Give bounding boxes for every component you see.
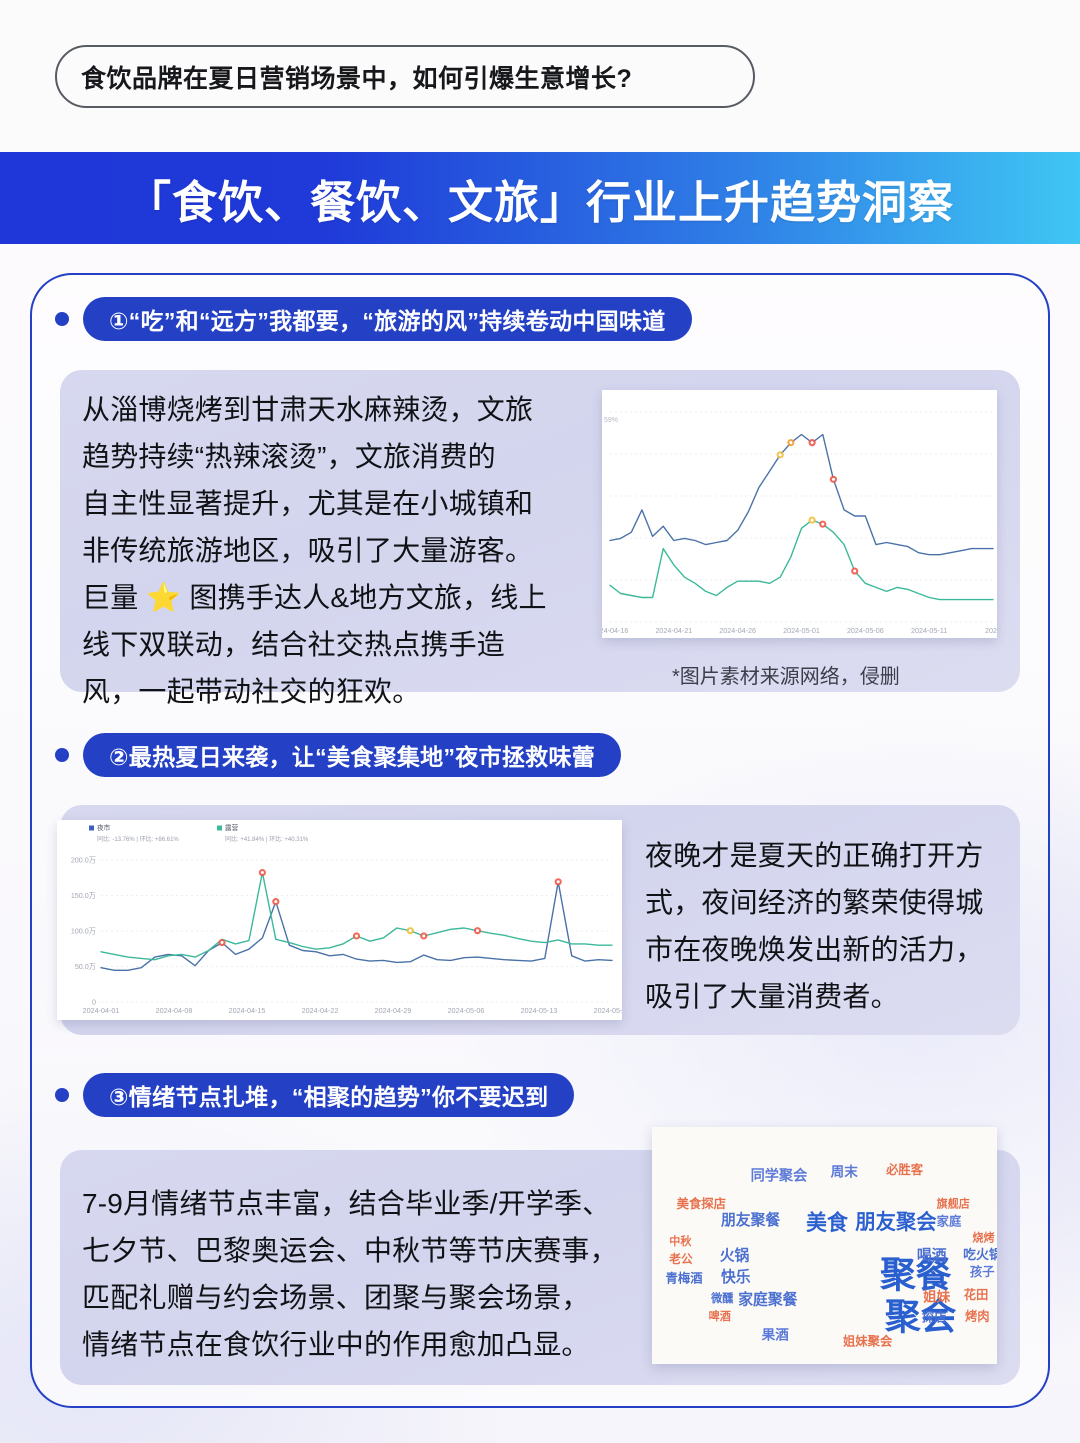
svg-text:2024-04-26: 2024-04-26	[719, 626, 756, 635]
bullet-icon-2	[55, 748, 69, 762]
section-2-body-line-3: 吸引了大量消费者。	[645, 973, 1015, 1020]
word-cloud-term: 中秋	[669, 1236, 691, 1247]
svg-text:2024-05-01: 2024-05-01	[783, 626, 820, 635]
bullet-icon-3	[55, 1088, 69, 1102]
word-cloud-term: 花田	[964, 1289, 989, 1302]
section-2-heading-row: ②最热夏日来袭，让“美食聚集地”夜市拯救味蕾	[55, 733, 621, 777]
chart-night-market-svg: 2024-04-012024-04-082024-04-152024-04-22…	[57, 820, 622, 1020]
svg-text:50.0万: 50.0万	[75, 962, 96, 971]
word-cloud-term: 果酒	[762, 1328, 789, 1342]
word-cloud-term: 青梅酒	[666, 1272, 703, 1285]
poster-background: 食饮品牌在夏日营销场景中，如何引爆生意增长? 「食饮、餐饮、文旅」行业上升趋势洞…	[0, 0, 1080, 1443]
word-cloud-term: 老公	[669, 1253, 692, 1265]
word-cloud-term: 同学聚会	[751, 1169, 808, 1184]
word-cloud-term: 微醺	[711, 1293, 733, 1304]
bullet-icon-1	[55, 312, 69, 326]
svg-text:2024-04-21: 2024-04-21	[655, 626, 692, 635]
headline-question-pill: 食饮品牌在夏日营销场景中，如何引爆生意增长?	[55, 45, 755, 108]
svg-text:露营: 露营	[225, 823, 239, 832]
headline-question-text: 食饮品牌在夏日营销场景中，如何引爆生意增长?	[81, 59, 632, 95]
svg-text:2024-05-06: 2024-05-06	[847, 626, 884, 635]
word-cloud-term: 火锅	[720, 1248, 750, 1263]
svg-text:2024-04-22: 2024-04-22	[302, 1006, 339, 1015]
section-3-heading-row: ③情绪节点扎堆，“相聚的趋势”你不要迟到	[55, 1073, 574, 1117]
section-3-heading-pill[interactable]: ③情绪节点扎堆，“相聚的趋势”你不要迟到	[83, 1073, 574, 1117]
svg-text:2024-05-13: 2024-05-13	[521, 1006, 558, 1015]
section-2-heading-pill[interactable]: ②最热夏日来袭，让“美食聚集地”夜市拯救味蕾	[83, 733, 621, 777]
chart-travel-trend-svg: 2024-04-162024-04-212024-04-262024-05-01…	[602, 390, 997, 638]
word-cloud-term: 烤肉	[965, 1310, 990, 1323]
section-1-body-line-2: 自主性显著提升，尤其是在小城镇和	[82, 480, 572, 527]
chart-night-market: 2024-04-012024-04-082024-04-152024-04-22…	[57, 820, 622, 1020]
word-cloud-term: 周末	[831, 1165, 858, 1179]
section-1-heading-row: ①“吃”和“远方”我都要，“旅游的风”持续卷动中国味道	[55, 297, 692, 341]
chart-1-source-caption: *图片素材来源网络，侵删	[672, 660, 900, 689]
section-2-body-text: 夜晚才是夏天的正确打开方 式，夜间经济的繁荣使得城 市在夜晚焕发出新的活力， 吸…	[645, 832, 1015, 1020]
section-1-body-line-0: 从淄博烧烤到甘肃天水麻辣烫，文旅	[82, 386, 572, 433]
banner-title: 「食饮、餐饮、文旅」行业上升趋势洞察	[126, 166, 954, 231]
svg-text:2024-04-01: 2024-04-01	[83, 1006, 120, 1015]
section-2-body-line-0: 夜晚才是夏天的正确打开方	[645, 832, 1015, 879]
section-1-body-line-3: 非传统旅游地区，吸引了大量游客。	[82, 527, 572, 574]
svg-text:2024: 2024	[985, 626, 997, 635]
section-3-body-line-2: 匹配礼赠与约会场景、团聚与聚会场景，	[82, 1274, 642, 1321]
word-cloud-term: 旗舰店	[937, 1198, 970, 1209]
svg-text:100.0万: 100.0万	[71, 927, 96, 936]
word-cloud-term: 吃火锅	[963, 1248, 997, 1261]
section-1-body-line-6: 风，一起带动社交的狂欢。	[82, 668, 572, 715]
word-cloud-term: 姐妹聚会	[843, 1336, 892, 1349]
svg-text:同比: +41.84% | 环比: +40.31%: 同比: +41.84% | 环比: +40.31%	[225, 835, 309, 843]
svg-text:2024-04-16: 2024-04-16	[602, 626, 628, 635]
svg-text:同比: -13.76% | 环比: +86.61%: 同比: -13.76% | 环比: +86.61%	[97, 835, 179, 843]
section-2-body-line-2: 市在夜晚焕发出新的活力，	[645, 926, 1015, 973]
section-1-heading-text: ①“吃”和“远方”我都要，“旅游的风”持续卷动中国味道	[109, 302, 666, 336]
section-3-body-line-0: 7-9月情绪节点丰富，结合毕业季/开学季、	[82, 1180, 642, 1227]
svg-text:2024-04-08: 2024-04-08	[156, 1006, 193, 1015]
svg-text:2024-04-15: 2024-04-15	[229, 1006, 266, 1015]
svg-text:150.0万: 150.0万	[71, 891, 96, 900]
section-1-body-text: 从淄博烧烤到甘肃天水麻辣烫，文旅 趋势持续“热辣滚烫”，文旅消费的 自主性显著提…	[82, 386, 572, 715]
svg-text:0: 0	[92, 998, 96, 1007]
section-2-heading-text: ②最热夏日来袭，让“美食聚集地”夜市拯救味蕾	[109, 738, 595, 772]
section-3-heading-text: ③情绪节点扎堆，“相聚的趋势”你不要迟到	[109, 1078, 548, 1112]
word-cloud-term: 家庭	[937, 1215, 962, 1228]
word-cloud-term: 探店	[922, 1312, 947, 1325]
section-1-body-line-5: 线下双联动，结合社交热点携手造	[82, 621, 572, 668]
svg-text:夜市: 夜市	[97, 823, 111, 832]
chart-travel-trend: 2024-04-162024-04-212024-04-262024-05-01…	[602, 390, 997, 638]
word-cloud-term: 美食	[806, 1212, 848, 1233]
cloud-gathering-keywords: 聚餐聚会美食朋友聚会同学聚会周末必胜客美食探店朋友聚餐旗舰店家庭中秋老公火锅快乐…	[652, 1127, 997, 1364]
section-3-body-text: 7-9月情绪节点丰富，结合毕业季/开学季、 七夕节、巴黎奥运会、中秋节等节庆赛事…	[82, 1180, 642, 1368]
word-cloud-term: 朋友聚餐	[721, 1213, 780, 1228]
section-banner: 「食饮、餐饮、文旅」行业上升趋势洞察	[0, 152, 1080, 244]
section-2-body-line-1: 式，夜间经济的繁荣使得城	[645, 879, 1015, 926]
svg-text:2024-05-06: 2024-05-06	[448, 1006, 485, 1015]
word-cloud-term: 姐妹	[923, 1290, 950, 1304]
section-1-body-line-1: 趋势持续“热辣滚烫”，文旅消费的	[82, 433, 572, 480]
word-cloud-term: 孩子	[970, 1266, 995, 1279]
word-cloud-term: 啤酒	[709, 1310, 731, 1321]
word-cloud-term: 喝酒	[917, 1248, 947, 1263]
section-1-heading-pill[interactable]: ①“吃”和“远方”我都要，“旅游的风”持续卷动中国味道	[83, 297, 692, 341]
section-1-body-line-4: 巨量 ⭐ 图携手达人&地方文旅，线上	[82, 574, 572, 621]
section-3-body-line-1: 七夕节、巴黎奥运会、中秋节等节庆赛事，	[82, 1227, 642, 1274]
svg-text:59%: 59%	[604, 417, 618, 424]
svg-text:2024-05-20: 2024-05-20	[594, 1006, 622, 1015]
word-cloud-term: 家庭聚餐	[738, 1293, 797, 1308]
svg-text:2024-04-29: 2024-04-29	[375, 1006, 412, 1015]
svg-text:200.0万: 200.0万	[71, 856, 96, 865]
word-cloud-term: 必胜客	[886, 1164, 923, 1177]
word-cloud-term: 快乐	[721, 1270, 751, 1285]
section-3-body-line-3: 情绪节点在食饮行业中的作用愈加凸显。	[82, 1321, 642, 1368]
word-cloud-term: 烧烤	[972, 1232, 994, 1243]
word-cloud-term: 美食探店	[677, 1198, 726, 1211]
word-cloud-term: 朋友聚会	[855, 1211, 936, 1232]
svg-text:2024-05-11: 2024-05-11	[911, 626, 947, 635]
word-cloud-host: 聚餐聚会美食朋友聚会同学聚会周末必胜客美食探店朋友聚餐旗舰店家庭中秋老公火锅快乐…	[652, 1127, 997, 1364]
